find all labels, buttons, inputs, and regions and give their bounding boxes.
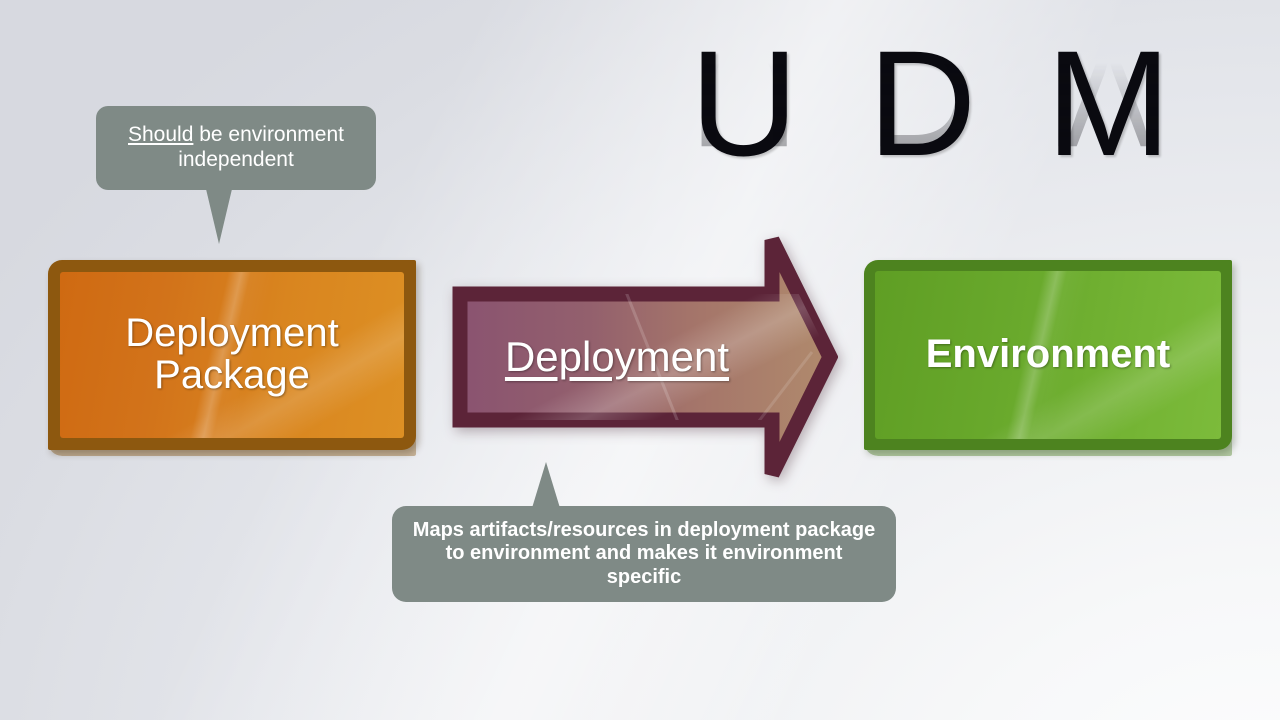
- callout-bottom-text: Maps artifacts/resources in deployment p…: [406, 519, 882, 590]
- slide-title-group: U D M U D M: [690, 28, 1210, 238]
- environment-label: Environment: [914, 334, 1182, 376]
- callout-tail-icon: [206, 189, 232, 244]
- deployment-package-shape[interactable]: Deployment Package: [48, 260, 416, 450]
- environment-shape[interactable]: Environment: [864, 260, 1232, 450]
- callout-top-text: Should be environment independent: [110, 123, 362, 173]
- page-title: U D M: [690, 28, 1210, 178]
- slide-canvas: Deployment Package Environment U D M U D…: [0, 0, 1280, 720]
- callout-environment-independent[interactable]: Should be environment independent: [96, 106, 376, 190]
- deployment-package-inner: Deployment Package: [60, 272, 404, 438]
- callout-top-rest: be environment independent: [178, 123, 344, 171]
- callout-maps-artifacts[interactable]: Maps artifacts/resources in deployment p…: [392, 506, 896, 602]
- deployment-arrow-shape[interactable]: Deployment: [452, 232, 838, 482]
- callout-top-emphasis: Should: [128, 123, 193, 146]
- deployment-package-label: Deployment Package: [60, 313, 404, 396]
- callout-tail-icon: [532, 462, 560, 508]
- environment-inner: Environment: [875, 271, 1221, 439]
